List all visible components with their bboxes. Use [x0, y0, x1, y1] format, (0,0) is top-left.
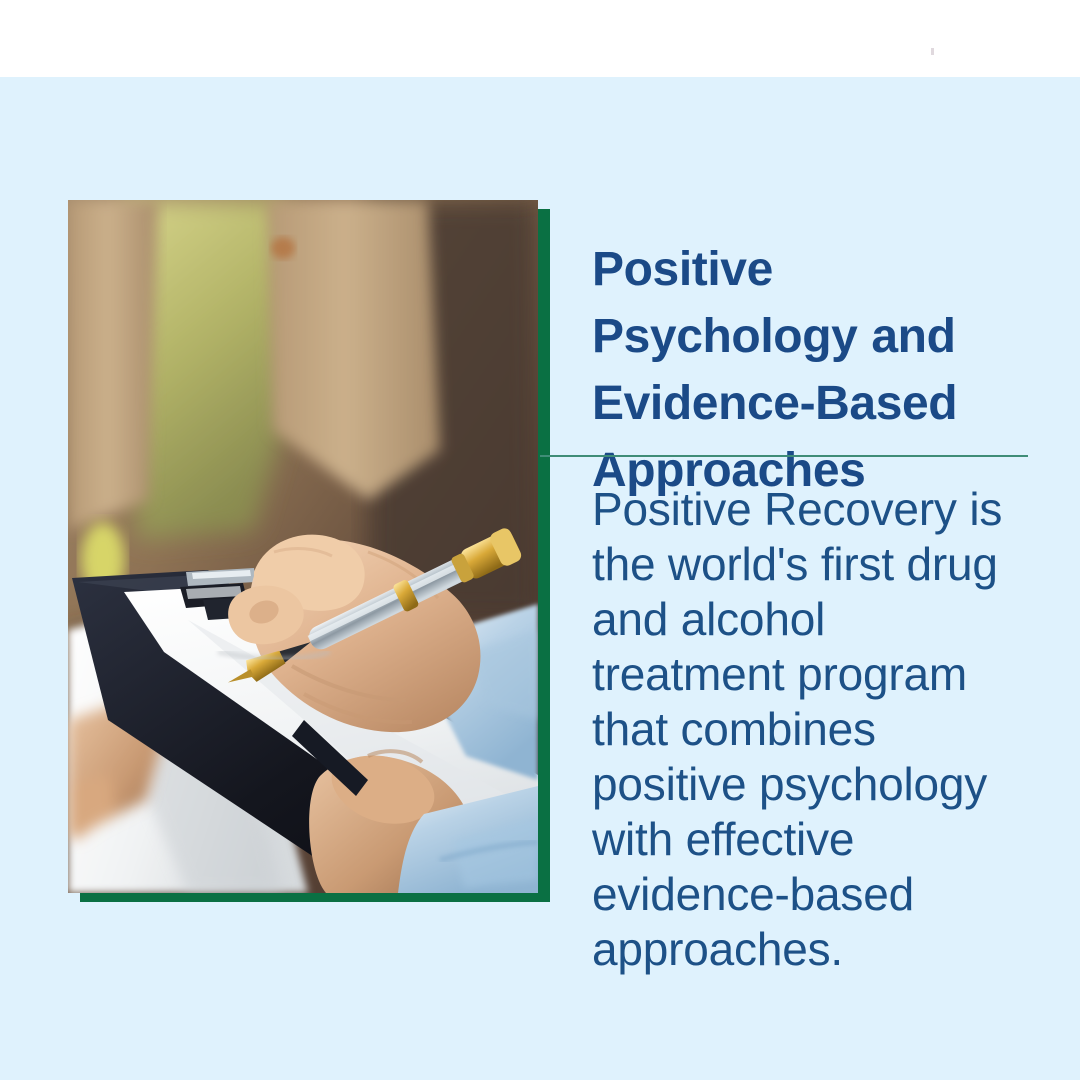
- clipboard-notes-photo: [68, 200, 538, 893]
- body-paragraph: Positive Recovery is the world's first d…: [592, 482, 1012, 977]
- text-column: Positive Psychology and Evidence-Based A…: [592, 236, 1028, 504]
- stray-artifact-mark: [931, 48, 934, 55]
- slide-canvas: Positive Psychology and Evidence-Based A…: [0, 0, 1080, 1080]
- section-divider: [540, 455, 1028, 457]
- top-white-band: [0, 0, 1080, 77]
- page-title: Positive Psychology and Evidence-Based A…: [592, 236, 1028, 504]
- media-block: [68, 200, 550, 902]
